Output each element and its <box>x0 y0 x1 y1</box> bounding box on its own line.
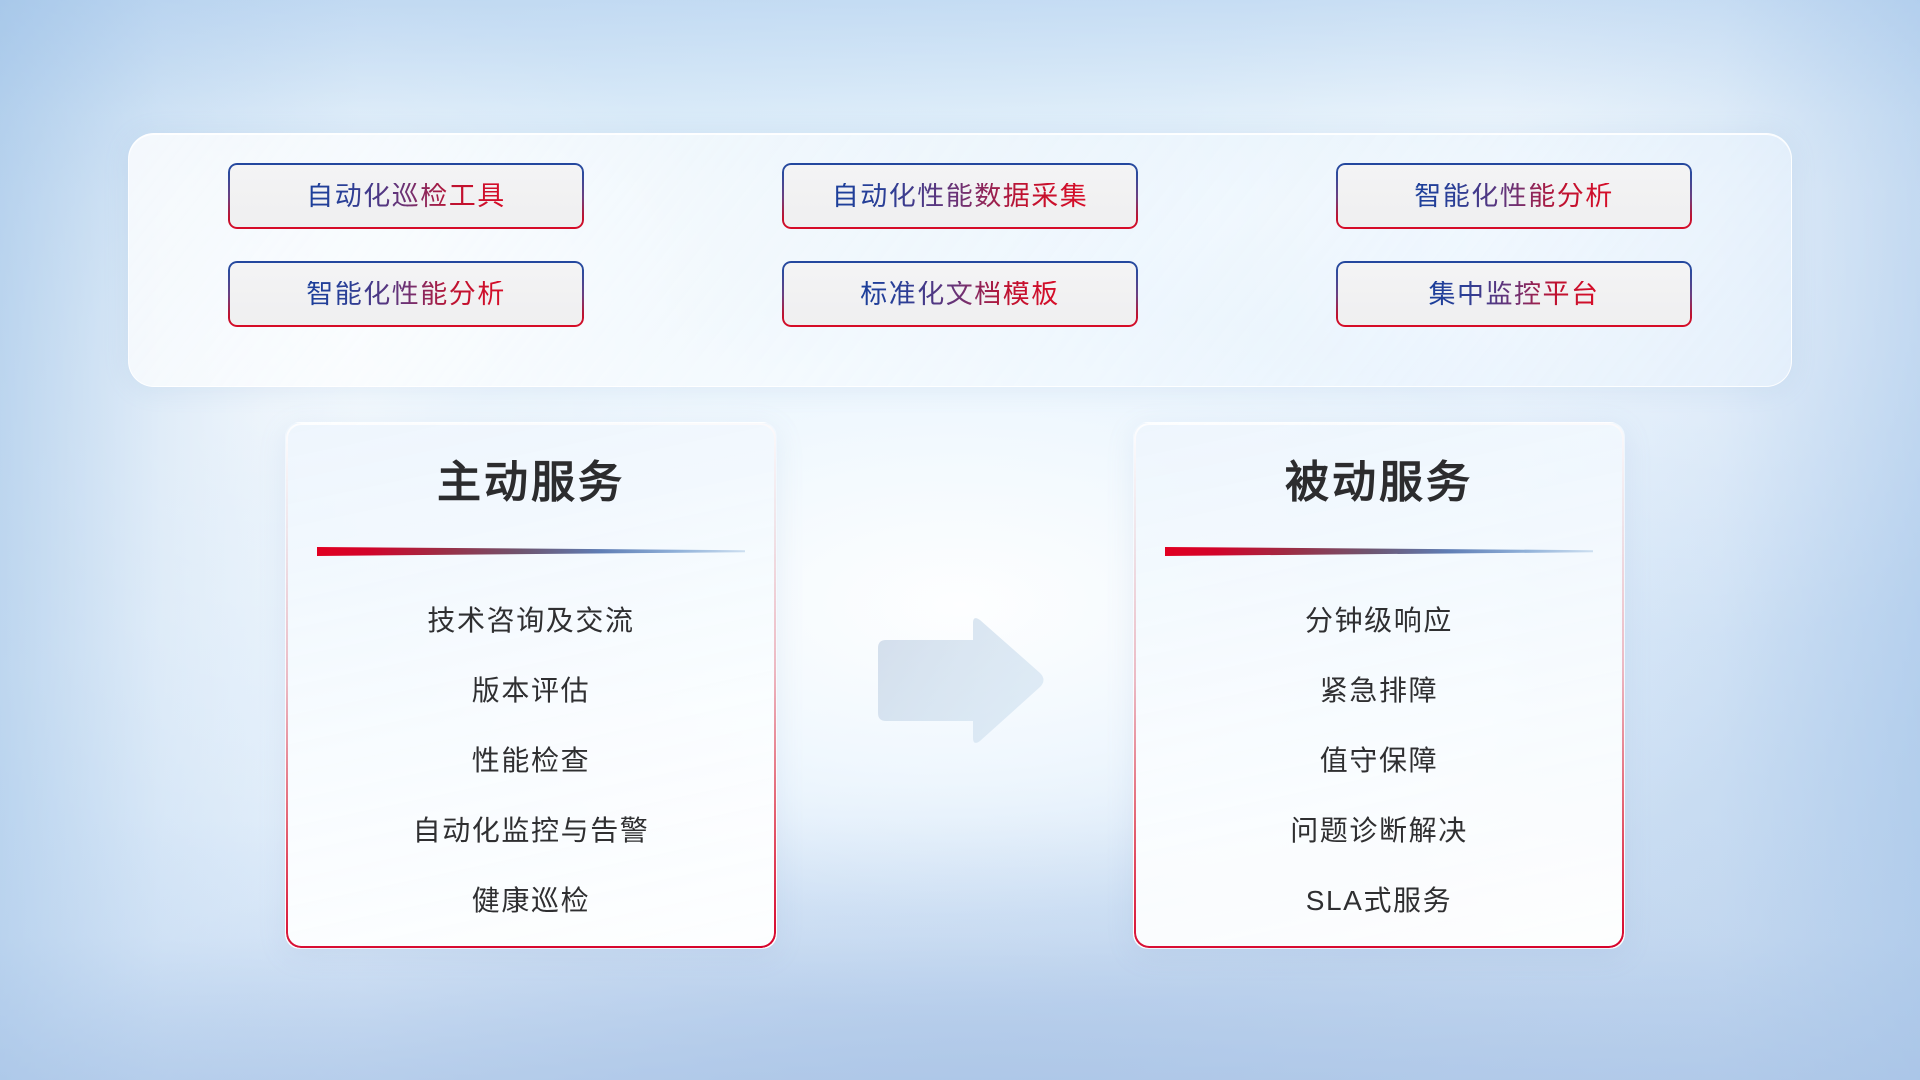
capability-pill-label: 集中监控平台 <box>1429 281 1600 308</box>
proactive-service-card: 主动服务 技术咨询及交流 版本评估 性能检查 自动化监控与告警 健康巡检 <box>285 422 777 949</box>
capability-pill-auto-perf-data[interactable]: 自动化性能数据采集 <box>782 163 1138 229</box>
list-item[interactable]: 技术咨询及交流 <box>286 586 776 656</box>
capability-pill-label: 标准化文档模板 <box>860 281 1060 308</box>
capability-pill-label: 智能化性能分析 <box>1414 183 1614 210</box>
list-item[interactable]: 自动化监控与告警 <box>286 796 776 866</box>
capability-pill-smart-perf-analysis-1[interactable]: 智能化性能分析 <box>1336 163 1692 229</box>
list-item[interactable]: 版本评估 <box>286 656 776 726</box>
capability-pill-label: 自动化性能数据采集 <box>832 183 1089 210</box>
card-divider-proactive <box>317 545 745 557</box>
capability-pill-smart-perf-analysis-2[interactable]: 智能化性能分析 <box>228 261 584 327</box>
card-title-proactive: 主动服务 <box>286 458 776 509</box>
capabilities-panel: 自动化巡检工具 自动化性能数据采集 智能化性能分析 智能化性能分析 标准化文档模… <box>128 133 1792 387</box>
proactive-service-list: 技术咨询及交流 版本评估 性能检查 自动化监控与告警 健康巡检 <box>286 586 776 936</box>
capability-pill-auto-inspection-tool[interactable]: 自动化巡检工具 <box>228 163 584 229</box>
list-item[interactable]: 健康巡检 <box>286 866 776 936</box>
capability-pill-label: 自动化巡检工具 <box>306 183 506 210</box>
capability-pill-central-monitor[interactable]: 集中监控平台 <box>1336 261 1692 327</box>
list-item[interactable]: 性能检查 <box>286 726 776 796</box>
list-item[interactable]: 紧急排障 <box>1134 656 1624 726</box>
reactive-service-list: 分钟级响应 紧急排障 值守保障 问题诊断解决 SLA式服务 <box>1134 586 1624 936</box>
list-item[interactable]: SLA式服务 <box>1134 866 1624 936</box>
reactive-service-card: 被动服务 分钟级响应 紧急排障 值守保障 问题诊断解决 SLA式服务 <box>1133 422 1625 949</box>
card-title-reactive: 被动服务 <box>1134 458 1624 509</box>
capability-pill-label: 智能化性能分析 <box>306 281 506 308</box>
capability-pill-standard-doc-template[interactable]: 标准化文档模板 <box>782 261 1138 327</box>
arrow-right-icon <box>872 613 1047 749</box>
list-item[interactable]: 值守保障 <box>1134 726 1624 796</box>
card-divider-reactive <box>1165 545 1593 557</box>
list-item[interactable]: 问题诊断解决 <box>1134 796 1624 866</box>
capability-pill-grid: 自动化巡检工具 自动化性能数据采集 智能化性能分析 智能化性能分析 标准化文档模… <box>129 163 1791 327</box>
list-item[interactable]: 分钟级响应 <box>1134 586 1624 656</box>
